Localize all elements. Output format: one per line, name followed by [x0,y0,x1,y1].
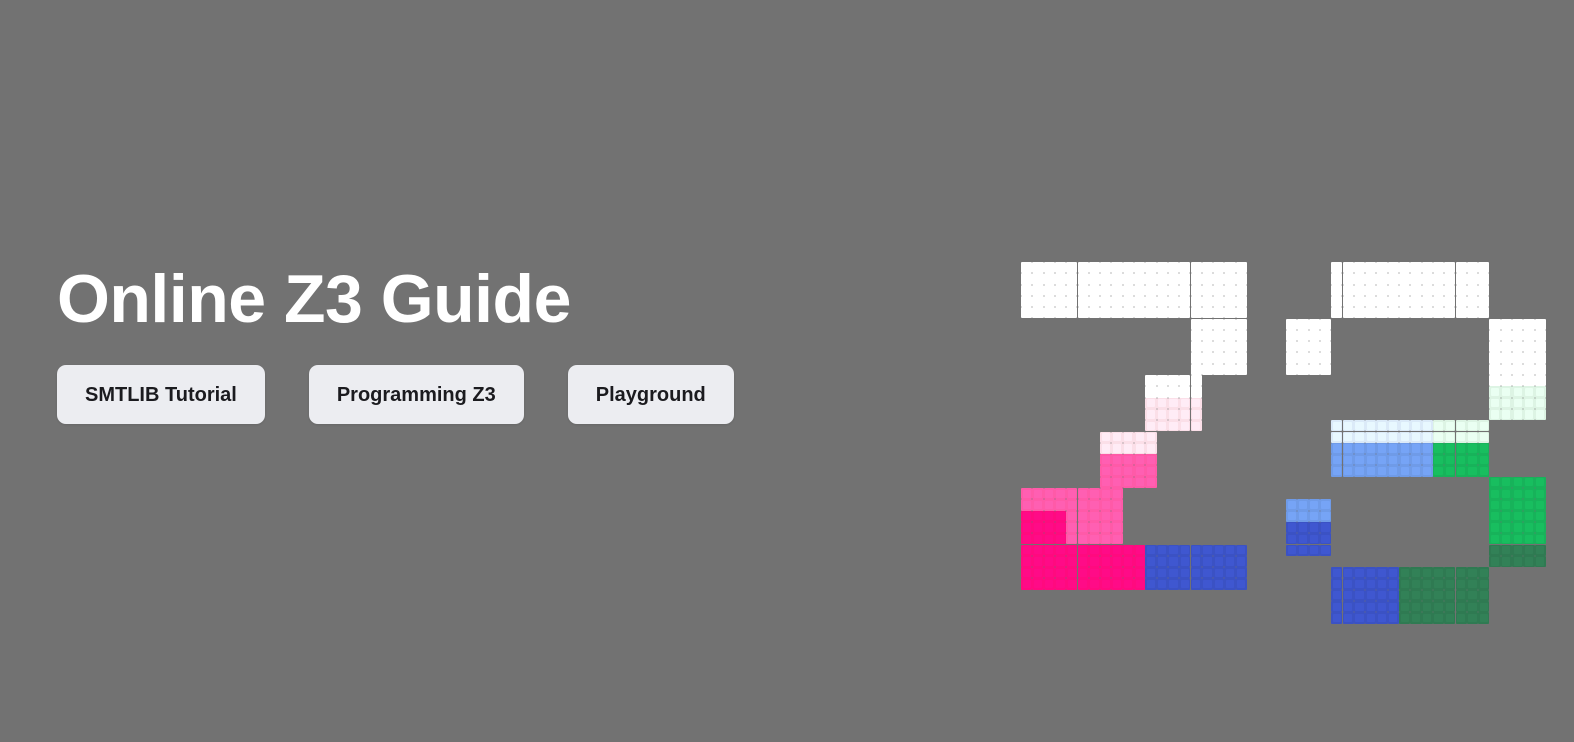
logo-pixel [1157,386,1168,397]
logo-pixel [1123,567,1134,578]
logo-pixel [1444,567,1455,578]
logo-pixel [1331,590,1342,601]
logo-pixel [1134,556,1145,567]
logo-pixel [1376,567,1387,578]
logo-pixel [1523,330,1534,341]
logo-pixel [1044,578,1055,589]
logo-pixel [1376,443,1387,454]
logo-pixel [1467,262,1478,273]
logo-pixel [1365,273,1376,284]
logo-pixel [1213,341,1224,352]
z3-pixel-logo [1021,262,1521,584]
logo-pixel [1032,511,1043,522]
logo-pixel [1489,330,1500,341]
logo-pixel [1501,330,1512,341]
logo-pixel [1157,296,1168,307]
logo-pixel [1123,465,1134,476]
logo-pixel [1202,545,1213,556]
logo-pixel [1055,511,1066,522]
logo-pixel [1191,273,1202,284]
logo-pixel [1309,533,1320,544]
logo-pixel [1236,330,1247,341]
logo-pixel [1111,522,1122,533]
logo-pixel [1078,262,1089,273]
logo-pixel [1523,319,1534,330]
logo-pixel [1478,443,1489,454]
logo-pixel [1123,454,1134,465]
logo-pixel [1354,285,1365,296]
logo-pixel [1089,522,1100,533]
logo-pixel [1111,296,1122,307]
logo-pixel [1467,567,1478,578]
logo-pixel [1501,533,1512,544]
logo-pixel [1512,488,1523,499]
logo-pixel [1489,398,1500,409]
logo-pixel [1021,556,1032,567]
logo-pixel [1089,567,1100,578]
logo-pixel [1422,454,1433,465]
logo-pixel [1365,454,1376,465]
logo-pixel [1523,409,1534,420]
logo-pixel [1501,556,1512,567]
logo-pixel [1123,545,1134,556]
logo-pixel [1032,545,1043,556]
logo-pixel [1399,273,1410,284]
logo-pixel [1224,262,1235,273]
logo-pixel [1157,398,1168,409]
logo-pixel [1489,375,1500,386]
logo-pixel [1410,567,1421,578]
logo-pixel [1365,420,1376,431]
logo-pixel [1399,432,1410,443]
logo-pixel [1410,443,1421,454]
logo-pixel [1078,522,1089,533]
logo-pixel [1410,285,1421,296]
logo-pixel [1224,296,1235,307]
logo-pixel [1044,285,1055,296]
logo-pixel [1066,285,1077,296]
logo-pixel [1055,499,1066,510]
logo-pixel [1444,262,1455,273]
logo-pixel [1134,477,1145,488]
logo-pixel [1376,262,1387,273]
logo-pixel [1021,488,1032,499]
logo-pixel [1478,285,1489,296]
logo-pixel [1134,567,1145,578]
logo-pixel [1078,556,1089,567]
logo-pixel [1168,262,1179,273]
logo-pixel [1021,578,1032,589]
logo-pixel [1145,420,1156,431]
logo-pixel [1399,262,1410,273]
logo-pixel [1331,307,1342,318]
logo-pixel [1422,273,1433,284]
logo-pixel [1410,420,1421,431]
logo-pixel [1331,612,1342,623]
logo-pixel [1309,352,1320,363]
logo-pixel [1376,432,1387,443]
logo-pixel [1066,488,1077,499]
logo-pixel [1501,398,1512,409]
logo-pixel [1354,567,1365,578]
logo-pixel [1100,499,1111,510]
logo-pixel [1422,567,1433,578]
logo-pixel [1478,465,1489,476]
logo-pixel [1236,352,1247,363]
logo-pixel [1032,488,1043,499]
logo-pixel [1191,307,1202,318]
logo-pixel [1512,409,1523,420]
logo-pixel [1213,262,1224,273]
logo-pixel [1055,285,1066,296]
logo-pixel [1044,567,1055,578]
logo-pixel [1179,296,1190,307]
logo-pixel [1478,420,1489,431]
logo-pixel [1213,364,1224,375]
logo-pixel [1478,567,1489,578]
logo-pixel [1123,432,1134,443]
logo-pixel [1236,545,1247,556]
logo-pixel [1535,319,1546,330]
logo-pixel [1343,285,1354,296]
logo-pixel [1467,307,1478,318]
logo-pixel [1145,432,1156,443]
logo-pixel [1376,420,1387,431]
logo-pixel [1089,273,1100,284]
logo-pixel [1168,409,1179,420]
logo-pixel [1320,545,1331,556]
logo-pixel [1489,556,1500,567]
logo-pixel [1478,307,1489,318]
logo-pixel [1535,352,1546,363]
logo-pixel [1512,398,1523,409]
logo-pixel [1467,465,1478,476]
logo-pixel [1021,307,1032,318]
logo-pixel [1320,352,1331,363]
logo-pixel [1535,341,1546,352]
logo-pixel [1191,556,1202,567]
logo-pixel [1376,296,1387,307]
logo-pixel [1523,352,1534,363]
logo-pixel [1297,533,1308,544]
logo-pixel [1309,511,1320,522]
logo-pixel [1433,590,1444,601]
logo-pixel [1433,307,1444,318]
logo-pixel [1202,352,1213,363]
logo-pixel [1388,612,1399,623]
logo-pixel [1444,296,1455,307]
logo-pixel [1489,319,1500,330]
logo-pixel [1078,567,1089,578]
logo-pixel [1331,465,1342,476]
logo-pixel [1365,465,1376,476]
logo-pixel [1331,432,1342,443]
logo-pixel [1168,386,1179,397]
logo-pixel [1309,341,1320,352]
logo-pixel [1410,465,1421,476]
logo-pixel [1286,319,1297,330]
logo-pixel [1343,601,1354,612]
logo-pixel [1354,590,1365,601]
logo-pixel [1078,273,1089,284]
logo-pixel [1157,375,1168,386]
logo-pixel [1376,285,1387,296]
logo-pixel [1422,307,1433,318]
logo-pixel [1501,319,1512,330]
logo-pixel [1055,262,1066,273]
logo-pixel [1044,533,1055,544]
logo-pixel [1157,545,1168,556]
logo-pixel [1535,386,1546,397]
logo-pixel [1032,578,1043,589]
logo-pixel [1422,465,1433,476]
logo-pixel [1433,567,1444,578]
logo-pixel [1168,420,1179,431]
logo-pixel [1444,578,1455,589]
logo-pixel [1343,262,1354,273]
logo-pixel [1145,443,1156,454]
logo-pixel [1512,499,1523,510]
logo-pixel [1388,262,1399,273]
playground-button[interactable]: Playground [568,365,734,424]
logo-pixel [1399,612,1410,623]
logo-pixel [1422,601,1433,612]
logo-pixel [1523,545,1534,556]
logo-pixel [1286,499,1297,510]
logo-pixel [1320,533,1331,544]
logo-pixel [1433,432,1444,443]
logo-pixel [1044,262,1055,273]
logo-pixel [1376,273,1387,284]
logo-pixel [1111,499,1122,510]
logo-pixel [1523,488,1534,499]
logo-pixel [1320,330,1331,341]
logo-pixel [1168,567,1179,578]
logo-pixel [1501,477,1512,488]
logo-pixel [1399,285,1410,296]
logo-pixel [1456,590,1467,601]
logo-pixel [1354,443,1365,454]
logo-pixel [1501,488,1512,499]
logo-pixel [1399,601,1410,612]
logo-pixel [1100,511,1111,522]
logo-pixel [1410,590,1421,601]
logo-pixel [1032,285,1043,296]
logo-pixel [1410,612,1421,623]
logo-pixel [1399,590,1410,601]
logo-pixel [1343,432,1354,443]
logo-pixel [1297,352,1308,363]
logo-pixel [1343,307,1354,318]
logo-pixel [1467,601,1478,612]
logo-pixel [1410,307,1421,318]
logo-pixel [1388,307,1399,318]
logo-pixel [1236,296,1247,307]
logo-pixel [1467,420,1478,431]
logo-pixel [1365,285,1376,296]
logo-pixel [1422,262,1433,273]
logo-pixel [1100,262,1111,273]
logo-pixel [1523,341,1534,352]
logo-pixel [1354,432,1365,443]
logo-pixel [1089,307,1100,318]
logo-pixel [1501,364,1512,375]
logo-pixel [1224,578,1235,589]
logo-pixel [1286,511,1297,522]
logo-pixel [1089,545,1100,556]
logo-pixel [1523,477,1534,488]
logo-pixel [1331,285,1342,296]
logo-pixel [1111,477,1122,488]
logo-pixel [1512,477,1523,488]
logo-pixel [1100,578,1111,589]
logo-pixel [1331,296,1342,307]
logo-pixel [1320,364,1331,375]
logo-pixel [1410,578,1421,589]
logo-pixel [1145,398,1156,409]
logo-pixel [1044,556,1055,567]
logo-pixel [1078,545,1089,556]
logo-pixel [1309,545,1320,556]
logo-pixel [1456,567,1467,578]
logo-pixel [1433,443,1444,454]
logo-pixel [1523,522,1534,533]
logo-pixel [1168,375,1179,386]
logo-pixel [1444,307,1455,318]
logo-pixel [1179,545,1190,556]
logo-pixel [1066,567,1077,578]
logo-pixel [1376,307,1387,318]
logo-pixel [1066,307,1077,318]
logo-pixel [1512,386,1523,397]
logo-pixel [1399,296,1410,307]
logo-pixel [1444,285,1455,296]
logo-pixel [1089,262,1100,273]
logo-pixel [1365,443,1376,454]
logo-pixel [1078,307,1089,318]
logo-pixel [1191,285,1202,296]
logo-pixel [1512,545,1523,556]
logo-pixel [1456,262,1467,273]
logo-pixel [1535,488,1546,499]
logo-pixel [1388,601,1399,612]
logo-pixel [1331,273,1342,284]
logo-pixel [1100,285,1111,296]
logo-pixel [1179,386,1190,397]
logo-pixel [1236,285,1247,296]
logo-pixel [1191,567,1202,578]
logo-pixel [1089,285,1100,296]
logo-pixel [1179,420,1190,431]
logo-pixel [1456,273,1467,284]
logo-pixel [1179,273,1190,284]
logo-pixel [1286,352,1297,363]
logo-pixel [1066,262,1077,273]
logo-pixel [1478,612,1489,623]
logo-pixel [1066,533,1077,544]
logo-pixel [1145,454,1156,465]
logo-pixel [1410,273,1421,284]
logo-pixel [1123,556,1134,567]
logo-pixel [1331,601,1342,612]
logo-pixel [1213,556,1224,567]
logo-pixel [1501,375,1512,386]
logo-pixel [1032,296,1043,307]
logo-pixel [1399,443,1410,454]
logo-pixel [1134,285,1145,296]
logo-pixel [1168,285,1179,296]
logo-pixel [1066,511,1077,522]
logo-pixel [1331,443,1342,454]
logo-pixel [1157,420,1168,431]
logo-pixel [1111,545,1122,556]
logo-pixel [1388,567,1399,578]
logo-pixel [1134,432,1145,443]
programming-z3-button[interactable]: Programming Z3 [309,365,524,424]
logo-pixel [1157,567,1168,578]
logo-pixel [1224,364,1235,375]
logo-pixel [1145,567,1156,578]
logo-pixel [1456,285,1467,296]
logo-pixel [1089,296,1100,307]
logo-pixel [1100,307,1111,318]
logo-pixel [1032,567,1043,578]
logo-pixel [1444,420,1455,431]
logo-pixel [1331,578,1342,589]
logo-pixel [1157,285,1168,296]
logo-pixel [1202,567,1213,578]
logo-pixel [1343,465,1354,476]
logo-pixel [1100,477,1111,488]
logo-pixel [1523,375,1534,386]
logo-pixel [1478,273,1489,284]
logo-pixel [1168,398,1179,409]
logo-pixel [1331,567,1342,578]
logo-pixel [1422,296,1433,307]
logo-pixel [1157,556,1168,567]
logo-pixel [1489,386,1500,397]
logo-pixel [1489,533,1500,544]
logo-pixel [1191,398,1202,409]
logo-pixel [1236,262,1247,273]
logo-pixel [1456,420,1467,431]
logo-pixel [1354,601,1365,612]
logo-pixel [1512,511,1523,522]
logo-pixel [1501,511,1512,522]
logo-pixel [1123,477,1134,488]
logo-pixel [1478,454,1489,465]
logo-pixel [1213,545,1224,556]
logo-pixel [1202,296,1213,307]
logo-pixel [1123,285,1134,296]
logo-pixel [1297,522,1308,533]
logo-pixel [1343,454,1354,465]
smtlib-tutorial-button[interactable]: SMTLIB Tutorial [57,365,265,424]
logo-pixel [1501,341,1512,352]
logo-pixel [1213,319,1224,330]
logo-pixel [1123,578,1134,589]
logo-pixel [1535,364,1546,375]
logo-pixel [1145,556,1156,567]
logo-pixel [1512,375,1523,386]
logo-pixel [1191,375,1202,386]
logo-pixel [1145,285,1156,296]
logo-pixel [1501,522,1512,533]
logo-pixel [1523,556,1534,567]
logo-pixel [1044,511,1055,522]
logo-pixel [1213,285,1224,296]
logo-pixel [1111,533,1122,544]
